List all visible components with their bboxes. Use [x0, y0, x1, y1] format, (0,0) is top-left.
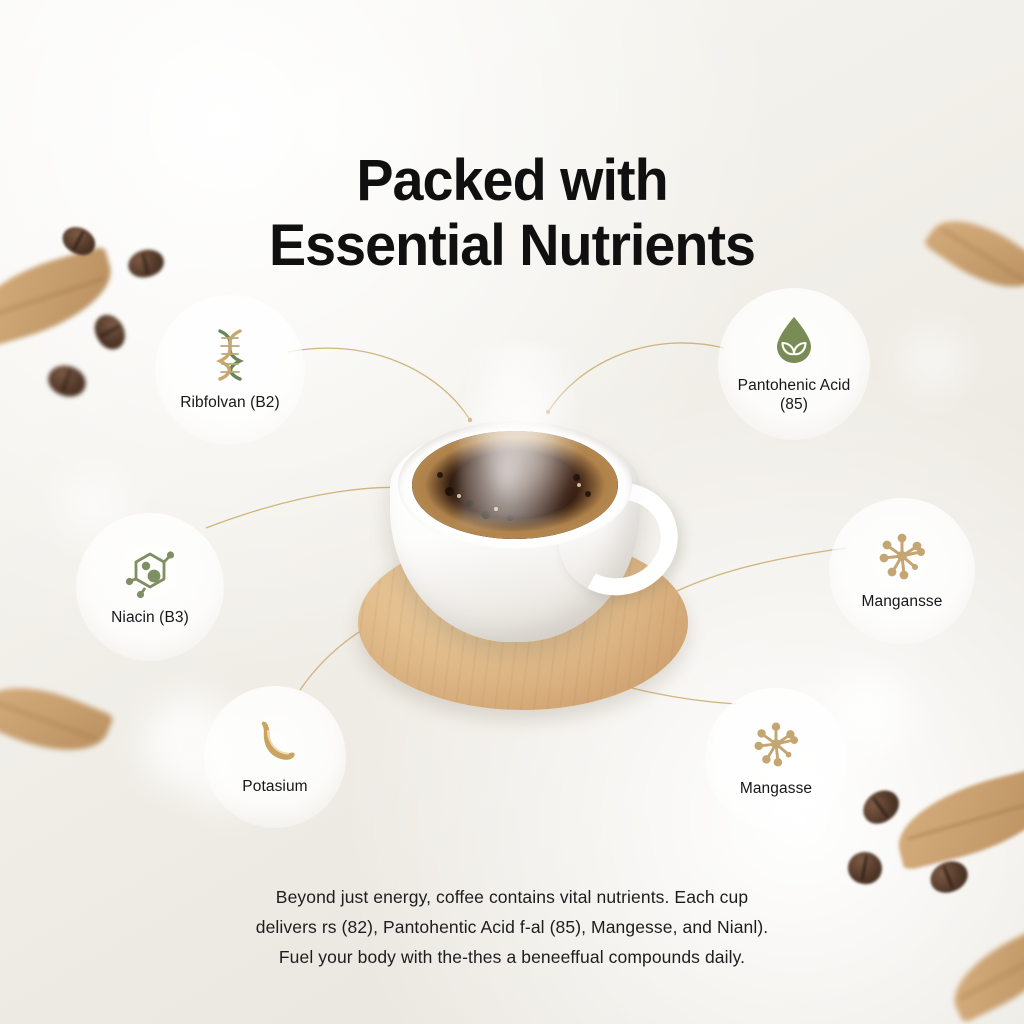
nutrient-badge-niacin[interactable]: Niacin (B3): [76, 513, 224, 661]
body-line-2: delivers rs (82), Pantohentic Acid f-al …: [0, 912, 1024, 942]
molecule-hexagon-icon: [124, 546, 176, 603]
nutrient-label: Potasium: [242, 778, 307, 796]
nutrient-label: Mangasse: [740, 780, 812, 798]
body-paragraph: Beyond just energy, coffee contains vita…: [0, 882, 1024, 972]
nutrient-badge-riboflavin[interactable]: Ribfolvan (B2): [155, 295, 305, 445]
nutrient-label: Niacin (B3): [111, 609, 189, 627]
leaf-droplet-icon: [772, 314, 816, 371]
coffee-surface: [412, 431, 618, 539]
connector-pantothenic: [548, 343, 724, 412]
nutrient-badge-manganese-right[interactable]: Mangansse: [829, 498, 975, 644]
nutrient-label: Ribfolvan (B2): [180, 394, 280, 412]
crema-ring: [412, 431, 618, 539]
atom-burst-icon: [751, 719, 801, 774]
nutrient-label: Mangansse: [861, 593, 942, 611]
body-line-1: Beyond just energy, coffee contains vita…: [0, 882, 1024, 912]
dna-helix-icon: [209, 327, 251, 388]
nutrient-badge-potassium[interactable]: Potasium: [204, 686, 346, 828]
infographic-canvas: Packed with Essential Nutrients: [0, 0, 1024, 1024]
nutrient-badge-manganese-bottom[interactable]: Mangasse: [705, 688, 847, 830]
atom-burst-icon: [876, 530, 928, 587]
nutrient-badge-pantothenic-acid[interactable]: Pantohenic Acid (85): [718, 288, 870, 440]
body-line-3: Fuel your body with the-thes a beneeffua…: [0, 942, 1024, 972]
nutrient-label: Pantohenic Acid (85): [738, 377, 851, 414]
coffee-cup-illustration: [330, 405, 730, 735]
banana-icon: [250, 717, 300, 772]
